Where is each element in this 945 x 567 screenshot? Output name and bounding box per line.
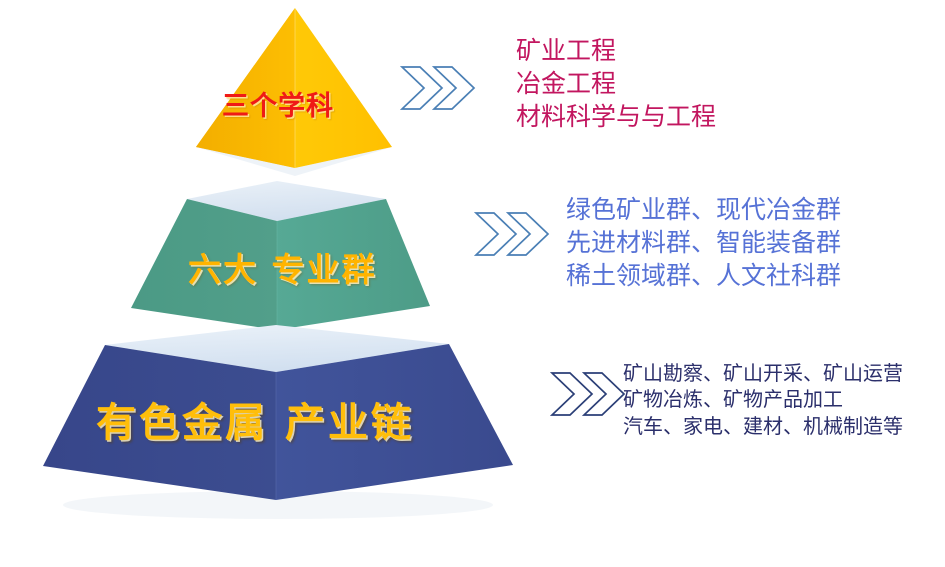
- pyramid-tier-middle[interactable]: [131, 181, 430, 330]
- pyramid-tier-top[interactable]: [196, 8, 392, 176]
- tier-top-face-right: [295, 8, 392, 168]
- tier-bottom-face-right: [276, 344, 513, 500]
- tier-top-detail-line: 材料科学与与工程: [516, 100, 716, 133]
- tier-bottom-detail-line: 汽车、家电、建材、机械制造等: [623, 413, 903, 439]
- tier-middle-details: 绿色矿业群、现代冶金群 先进材料群、智能装备群 稀土领域群、人文社科群: [566, 193, 841, 292]
- pyramid-tier-bottom[interactable]: [43, 325, 513, 500]
- tier-bottom-detail-line: 矿物冶炼、矿物产品加工: [623, 386, 903, 412]
- tier-bottom-details: 矿山勘察、矿山开采、矿山运营 矿物冶炼、矿物产品加工 汽车、家电、建材、机械制造…: [623, 360, 903, 439]
- tier-bottom-face-left: [43, 345, 276, 500]
- tier-top-detail-line: 矿业工程: [516, 34, 716, 67]
- tier-middle-face-right: [277, 199, 430, 330]
- tier-top-details: 矿业工程 冶金工程 材料科学与与工程: [516, 34, 716, 133]
- tier-middle-detail-line: 稀土领域群、人文社科群: [566, 259, 841, 292]
- tier-middle-face-left: [131, 199, 277, 330]
- tier-middle-detail-line: 先进材料群、智能装备群: [566, 226, 841, 259]
- tier-top-arrow: [398, 61, 490, 119]
- triple-chevron-right-icon: [472, 207, 564, 261]
- tier-middle-arrow: [472, 207, 564, 265]
- tier-middle-detail-line: 绿色矿业群、现代冶金群: [566, 193, 841, 226]
- diagram-canvas: 三个学科 六大 专业群 有色金属 产业链 矿业工程 冶金工: [0, 0, 945, 567]
- tier-top-detail-line: 冶金工程: [516, 67, 716, 100]
- triple-chevron-right-icon: [398, 61, 490, 115]
- tier-top-face-left-b: [196, 8, 295, 168]
- tier-bottom-detail-line: 矿山勘察、矿山开采、矿山运营: [623, 360, 903, 386]
